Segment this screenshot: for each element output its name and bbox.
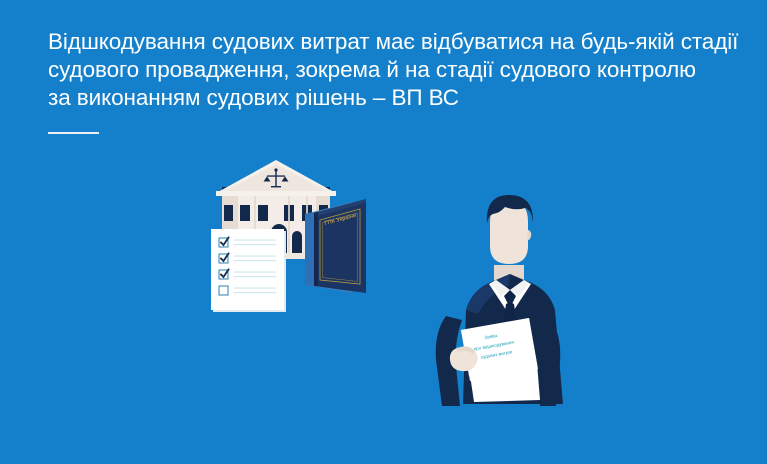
illustration-stage: ГПК України — [0, 150, 767, 464]
headline-divider — [48, 132, 99, 134]
legal-code-book-icon: ГПК України — [305, 199, 366, 293]
checklist-document-icon — [211, 229, 286, 312]
man-in-suit-icon: Заява про відшкодування судових витрат — [436, 195, 563, 406]
headline-line-2: судового провадження, зокрема й на стаді… — [48, 56, 728, 84]
page-title: Відшкодування судових витрат має відбува… — [48, 28, 728, 112]
headline-line-1: Відшкодування судових витрат має відбува… — [48, 28, 728, 56]
headline-line-3: за виконанням судових рішень – ВП ВС — [48, 84, 728, 112]
banner-root: Відшкодування судових витрат має відбува… — [0, 0, 767, 464]
